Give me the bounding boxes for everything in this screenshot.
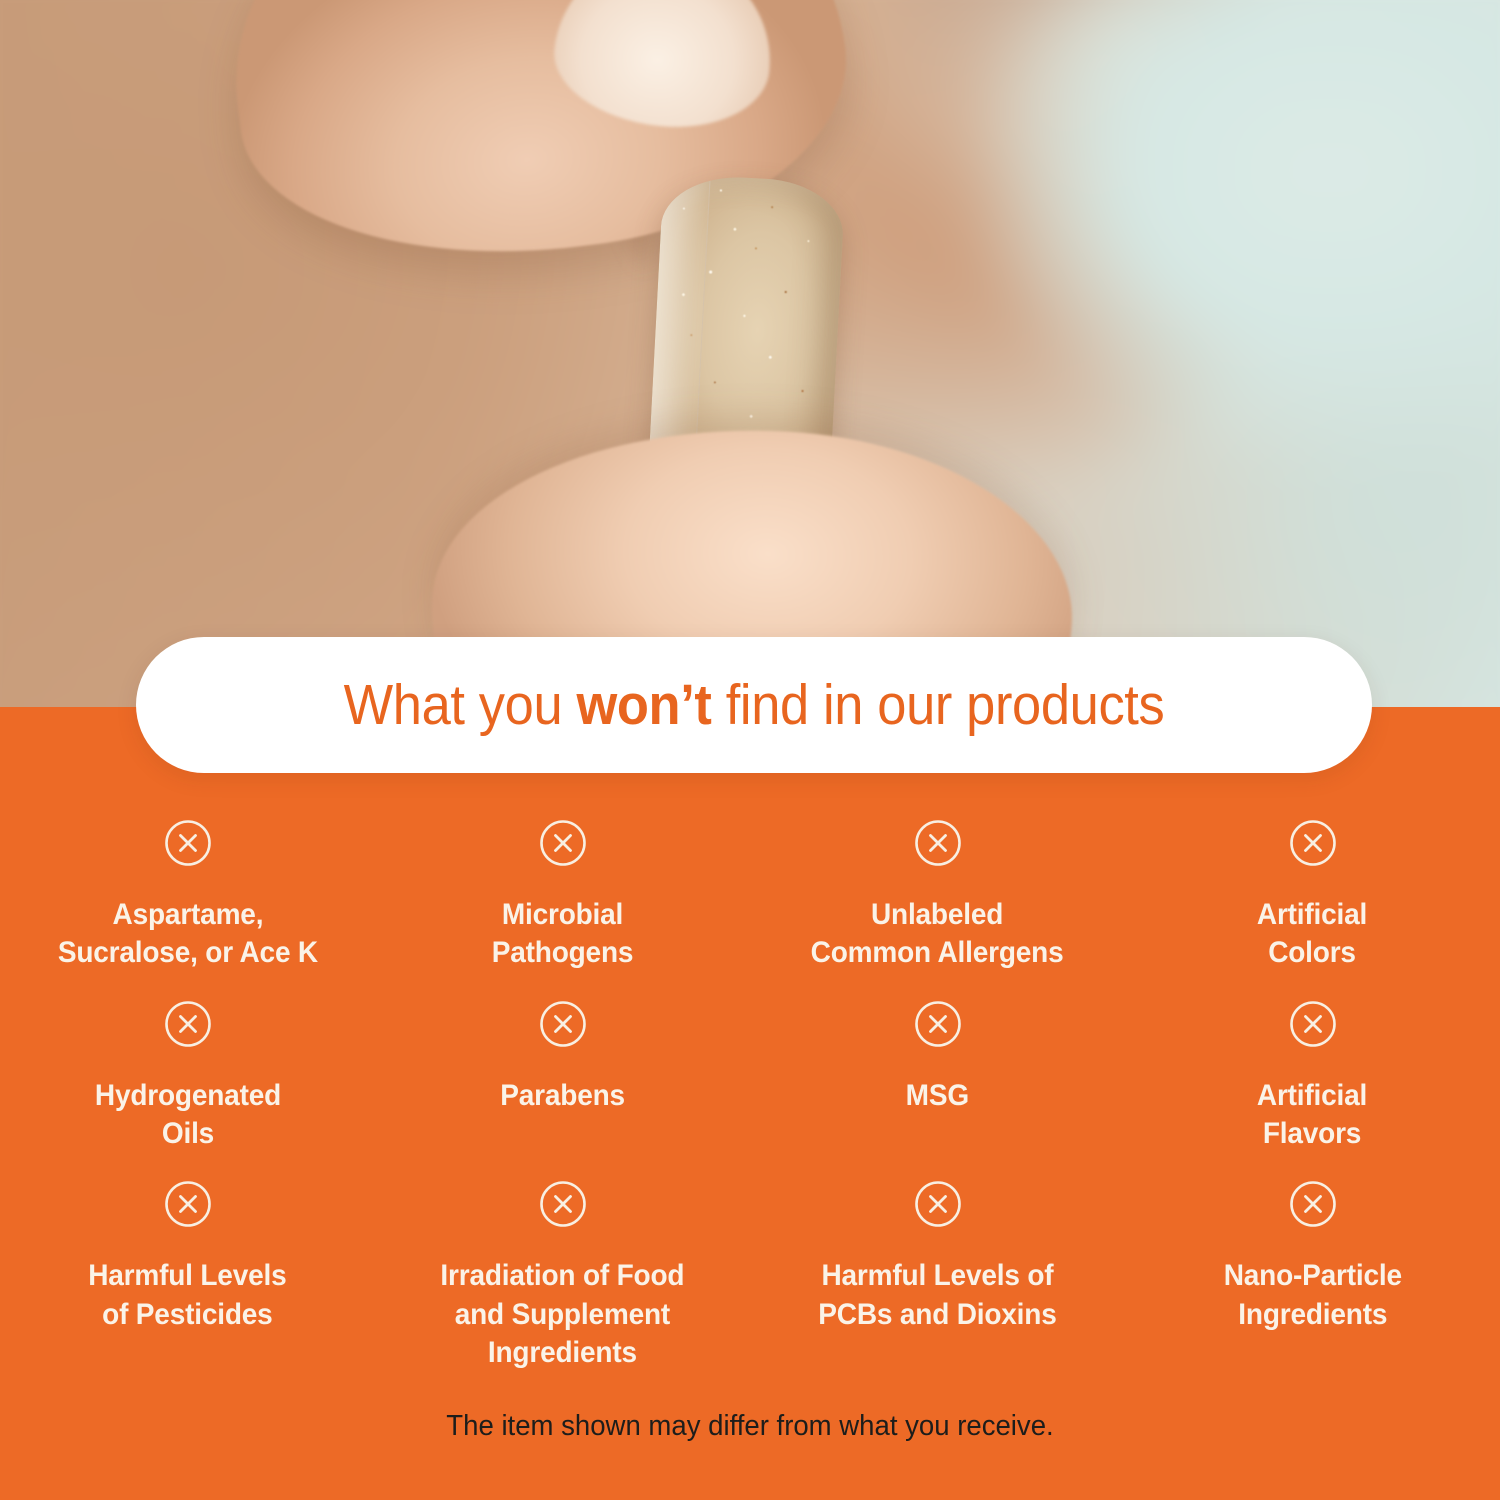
exclusion-label: Harmful Levelsof Pesticides xyxy=(88,1257,286,1334)
product-photo xyxy=(0,0,1500,712)
circle-x-icon xyxy=(1288,999,1338,1049)
circle-x-icon xyxy=(913,999,963,1049)
headline-part-2: find in our products xyxy=(711,673,1164,737)
exclusion-item: Harmful Levelsof Pesticides xyxy=(0,1179,375,1372)
circle-x-icon xyxy=(538,818,588,868)
exclusion-label: Parabens xyxy=(500,1077,625,1115)
product-claims-infographic: What you won’t find in our products Aspa… xyxy=(0,0,1500,1500)
exclusion-item: UnlabeledCommon Allergens xyxy=(750,818,1125,973)
circle-x-icon xyxy=(1288,1179,1338,1229)
headline-part-1: What you xyxy=(344,673,577,737)
exclusion-label: UnlabeledCommon Allergens xyxy=(811,896,1064,973)
exclusion-label: Harmful Levels ofPCBs and Dioxins xyxy=(818,1257,1056,1334)
exclusion-label: Nano-ParticleIngredients xyxy=(1223,1257,1401,1334)
circle-x-icon xyxy=(913,1179,963,1229)
circle-x-icon xyxy=(1288,818,1338,868)
exclusion-item: Aspartame,Sucralose, or Ace K xyxy=(0,818,375,973)
exclusion-label: Irradiation of Foodand SupplementIngredi… xyxy=(441,1257,685,1372)
exclusion-label: Aspartame,Sucralose, or Ace K xyxy=(57,896,317,973)
circle-x-icon xyxy=(538,999,588,1049)
exclusion-label: ArtificialColors xyxy=(1257,896,1367,973)
exclusion-item: Nano-ParticleIngredients xyxy=(1125,1179,1500,1372)
circle-x-icon xyxy=(163,999,213,1049)
exclusion-item: MicrobialPathogens xyxy=(375,818,750,973)
exclusion-item: ArtificialColors xyxy=(1125,818,1500,973)
disclaimer-text: The item shown may differ from what you … xyxy=(38,1409,1463,1444)
exclusion-item: Harmful Levels ofPCBs and Dioxins xyxy=(750,1179,1125,1372)
headline-card: What you won’t find in our products xyxy=(136,637,1372,773)
page-title: What you won’t find in our products xyxy=(344,677,1165,734)
exclusion-item: Irradiation of Foodand SupplementIngredi… xyxy=(375,1179,750,1372)
circle-x-icon xyxy=(538,1179,588,1229)
exclusion-item: HydrogenatedOils xyxy=(0,999,375,1154)
headline-emphasis: won’t xyxy=(576,673,711,737)
exclusion-label: ArtificialFlavors xyxy=(1257,1077,1367,1154)
exclusion-label: MicrobialPathogens xyxy=(492,896,634,973)
exclusion-item: Parabens xyxy=(375,999,750,1154)
exclusions-grid: Aspartame,Sucralose, or Ace K MicrobialP… xyxy=(0,818,1500,1372)
exclusion-label: MSG xyxy=(906,1077,969,1115)
circle-x-icon xyxy=(913,818,963,868)
exclusion-label: HydrogenatedOils xyxy=(94,1077,280,1154)
circle-x-icon xyxy=(163,1179,213,1229)
circle-x-icon xyxy=(163,818,213,868)
exclusion-item: ArtificialFlavors xyxy=(1125,999,1500,1154)
exclusion-item: MSG xyxy=(750,999,1125,1154)
